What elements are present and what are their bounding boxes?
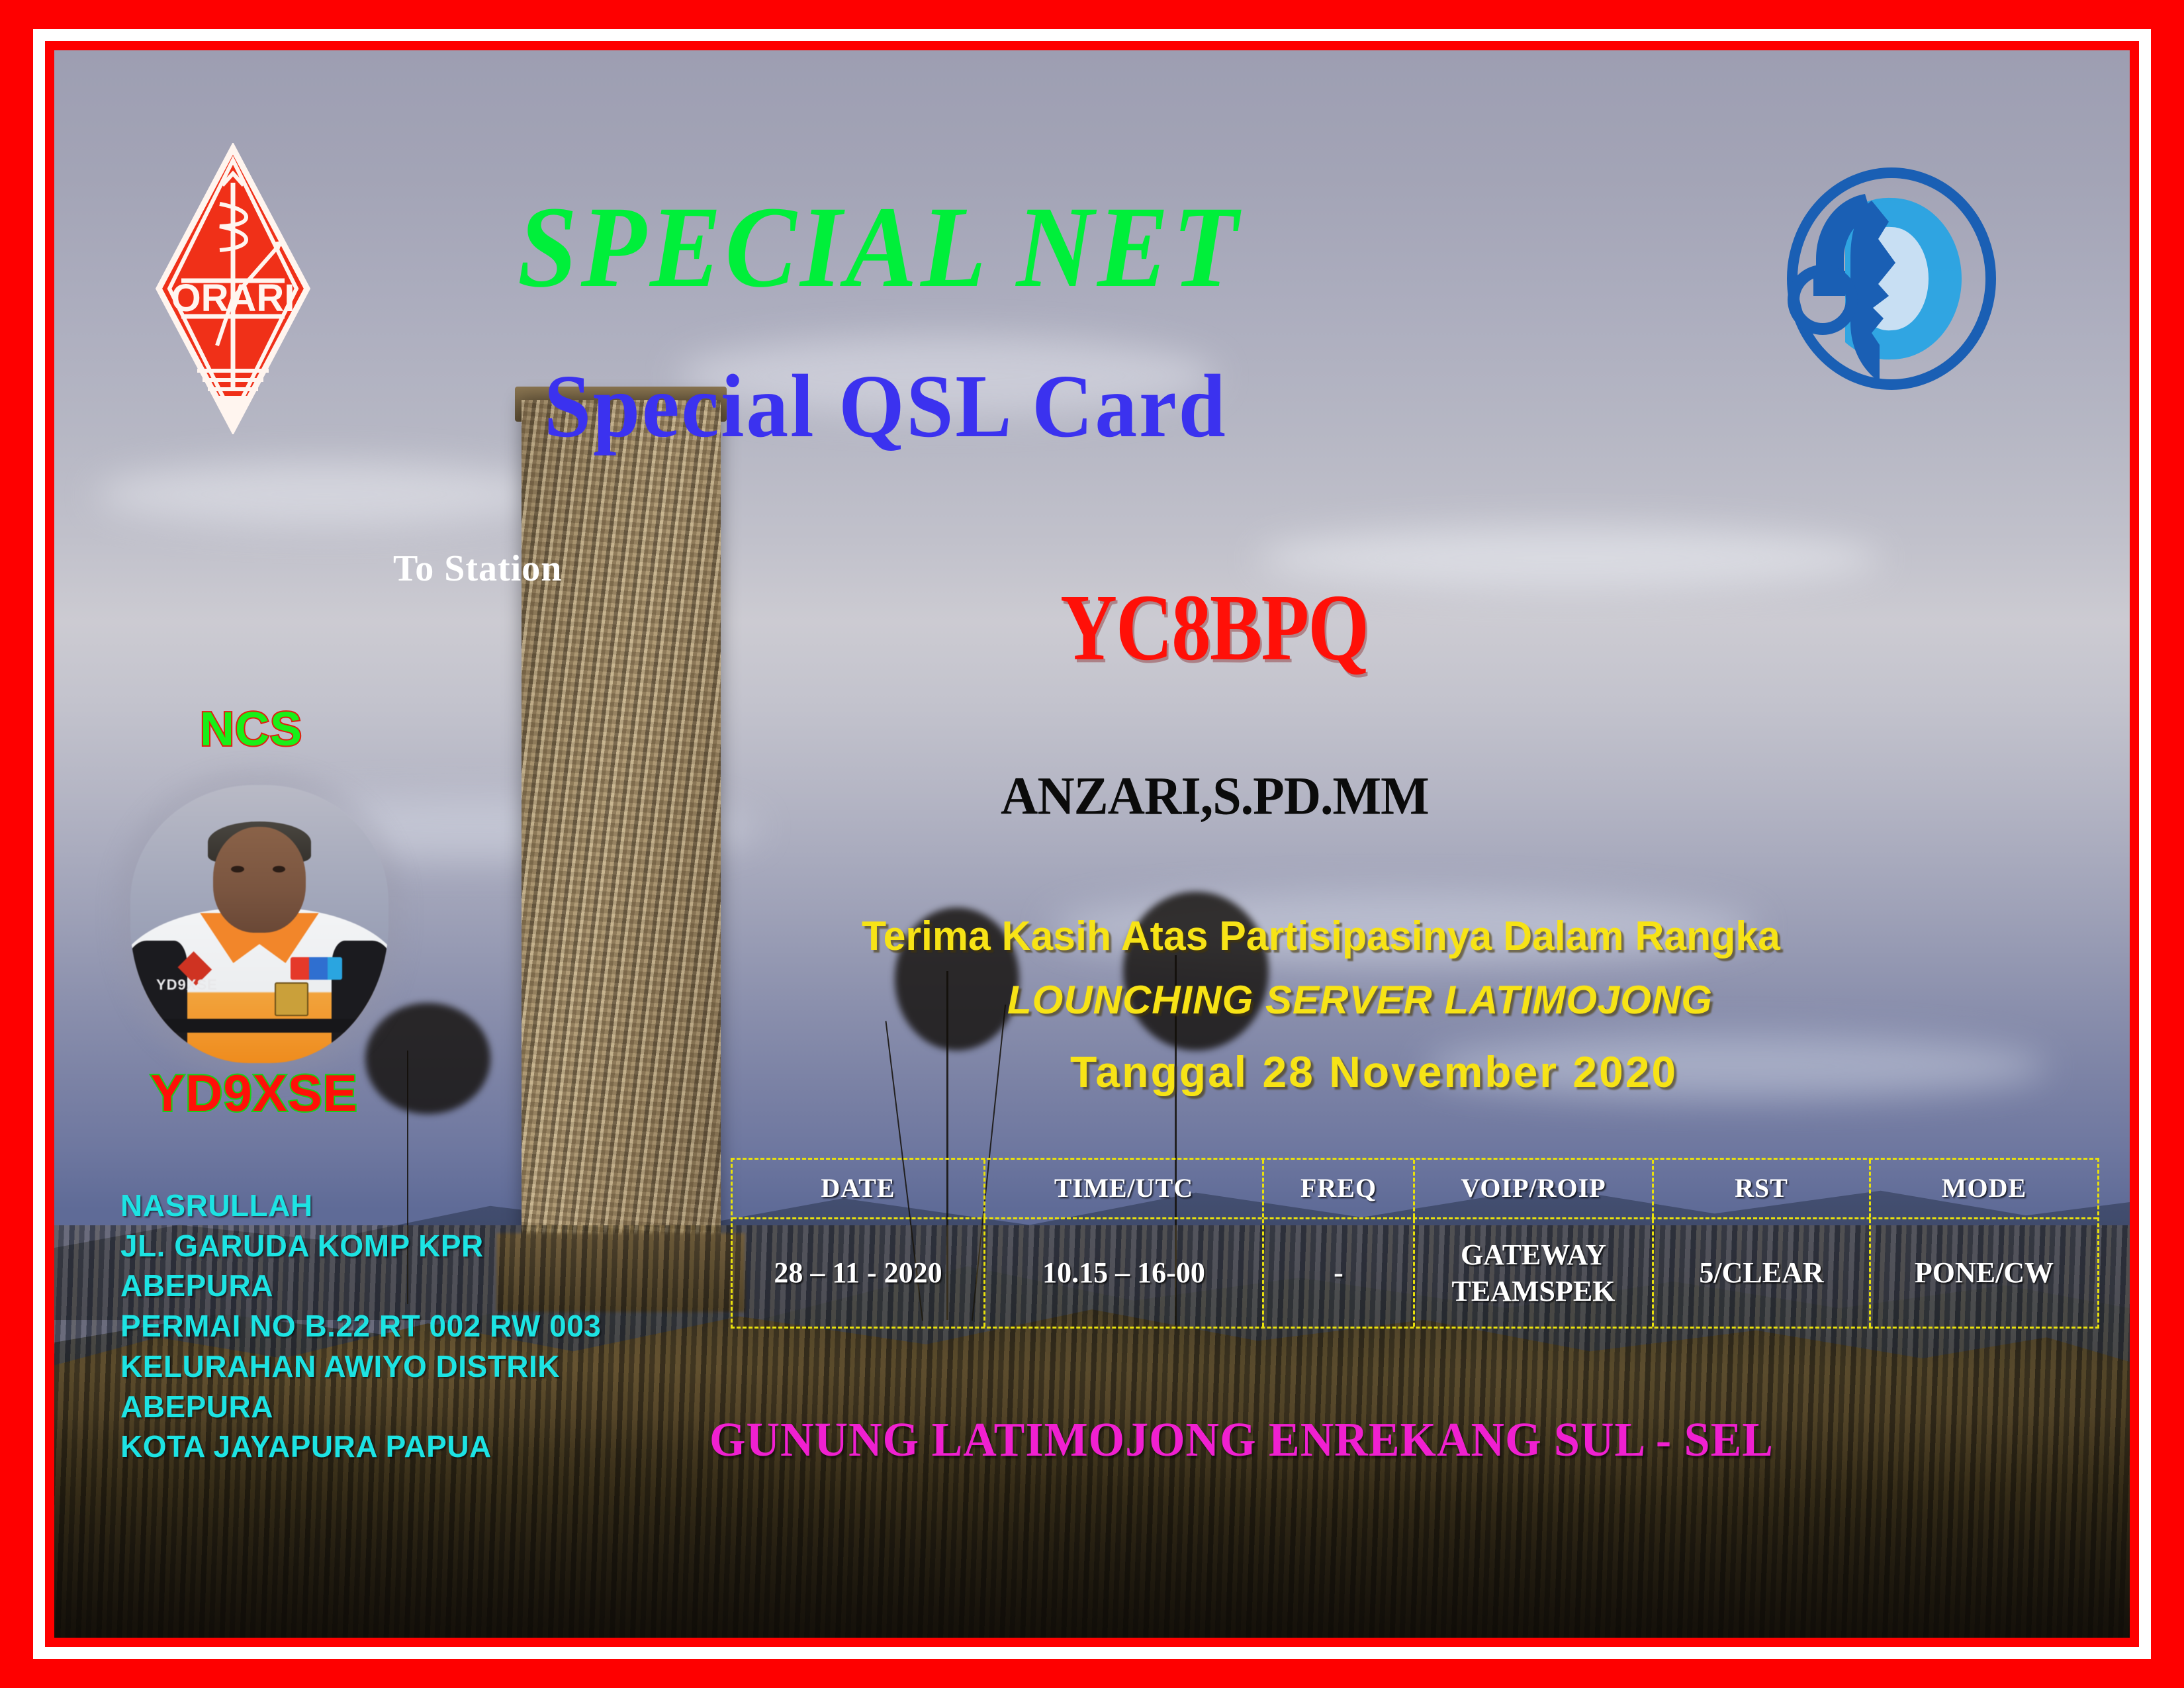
operator-name: ANZARI,S.PD.MM	[1001, 769, 1429, 823]
table-cell-time-utc: 10.15 – 16-00	[985, 1219, 1264, 1327]
address-line: KELURAHAN AWIYO DISTRIK	[120, 1346, 601, 1387]
stone-pillar-monument	[522, 400, 721, 1257]
portrait-chest-logo	[291, 957, 342, 980]
event-title: LOUNCHING SERVER LATIMOJONG	[1007, 977, 1713, 1023]
portrait-sleeve-left	[130, 941, 187, 1063]
table-header-voip-roip: VOIP/ROIP	[1415, 1160, 1654, 1217]
ncs-address-block: NASRULLAH JL. GARUDA KOMP KPR ABEPURA PE…	[120, 1186, 601, 1467]
location-line: GUNUNG LATIMOJONG ENREKANG SUL - SEL	[709, 1413, 1774, 1468]
station-callsign: YC8BPQ	[1060, 580, 1368, 675]
background-photograph: ORARI SPECIAL NET Special QSL Card To St…	[54, 50, 2130, 1638]
radio-operator-headset-icon	[1772, 160, 2011, 398]
qsl-card: ORARI SPECIAL NET Special QSL Card To St…	[0, 0, 2184, 1688]
ncs-operator-portrait: YD9XSE	[130, 785, 388, 1063]
portrait-uniform-callsign: YD9XSE	[156, 976, 218, 994]
table-cell-freq: -	[1264, 1219, 1415, 1327]
address-line: ABEPURA	[120, 1266, 601, 1306]
table-header-rst: RST	[1654, 1160, 1871, 1217]
table-header-date: DATE	[733, 1160, 985, 1217]
event-date: Tanggal 28 November 2020	[1070, 1047, 1678, 1097]
portrait-id-badge	[275, 982, 308, 1015]
cloud-streak	[96, 463, 553, 526]
to-station-label: To Station	[393, 550, 562, 587]
address-line: PERMAI NO B.22 RT 002 RW 003	[120, 1306, 601, 1346]
ncs-callsign: YD9XSE	[150, 1063, 358, 1123]
table-header-row: DATE TIME/UTC FREQ VOIP/ROIP RST MODE	[733, 1160, 2097, 1217]
table-header-mode: MODE	[1871, 1160, 2097, 1217]
address-line: KOTA JAYAPURA PAPUA	[120, 1427, 601, 1467]
ncs-label: NCS	[200, 702, 302, 757]
heading-special-net: SPECIAL NET	[518, 189, 1242, 306]
table-header-freq: FREQ	[1264, 1160, 1415, 1217]
portrait-eye-right	[273, 866, 286, 872]
address-line: JL. GARUDA KOMP KPR	[120, 1226, 601, 1266]
portrait-face	[213, 827, 306, 933]
orari-logo-text: ORARI	[171, 277, 295, 320]
table-cell-voip-roip: GATEWAY TEAMSPEK	[1415, 1219, 1654, 1327]
table-cell-date: 28 – 11 - 2020	[733, 1219, 985, 1327]
address-line: NASRULLAH	[120, 1186, 601, 1226]
footer-motto: "AMATIR RADIO ADALAH PROGRESIVE"	[134, 1635, 1057, 1638]
table-cell-mode: PONE/CW	[1871, 1219, 2097, 1327]
portrait-eye-left	[231, 866, 244, 872]
thanks-line-1: Terima Kasih Atas Partisipasinya Dalam R…	[862, 913, 1780, 960]
heading-special-qsl-card: Special QSL Card	[544, 361, 1228, 451]
table-cell-rst: 5/CLEAR	[1654, 1219, 1871, 1327]
orari-logo: ORARI	[154, 143, 312, 434]
qso-log-table: DATE TIME/UTC FREQ VOIP/ROIP RST MODE 28…	[731, 1158, 2099, 1329]
table-row: 28 – 11 - 2020 10.15 – 16-00 - GATEWAY T…	[733, 1217, 2097, 1327]
portrait-belt	[130, 1019, 388, 1033]
footer-web-address: Address : amatir.latimojong.com	[1332, 1634, 2001, 1638]
table-header-time-utc: TIME/UTC	[985, 1160, 1264, 1217]
address-line: ABEPURA	[120, 1387, 601, 1427]
